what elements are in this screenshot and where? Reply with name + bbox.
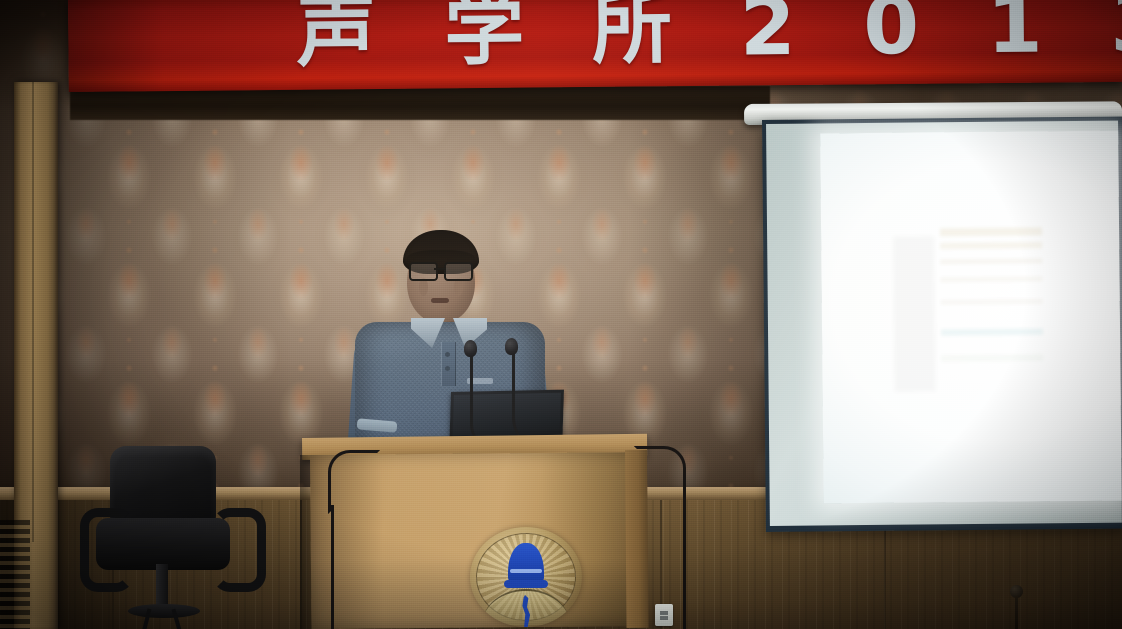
microphone-head-left <box>464 340 477 357</box>
gooseneck-microphone-left <box>470 346 491 446</box>
red-event-banner: 声 学 所 2 0 1 3 年 里 <box>68 0 1122 92</box>
eyeglass-lens-left <box>409 262 438 281</box>
presentation-photo: 声 学 所 2 0 1 3 年 里 <box>0 0 1122 629</box>
presenter-eyebrow <box>447 258 469 261</box>
projection-screen-border <box>766 121 1122 526</box>
podium-cable <box>331 505 408 629</box>
louvered-vent <box>0 520 30 629</box>
presenter-mouth <box>431 298 449 303</box>
microphone-head-right <box>505 338 518 355</box>
black-office-chair <box>84 446 254 629</box>
power-outlet <box>655 604 673 626</box>
polo-button <box>445 352 450 357</box>
polo-placket <box>441 342 456 386</box>
slide-ghost-text <box>940 228 1043 392</box>
podium-cable-right <box>634 446 686 629</box>
slide-ghost-column <box>893 236 936 392</box>
eyeglasses-icon <box>409 262 473 278</box>
wall-knob-stem <box>1015 596 1018 629</box>
polo-button <box>445 366 450 371</box>
banner-shadow-gap <box>70 86 770 120</box>
eyeglass-lens-right <box>444 262 473 281</box>
banner-text: 声 学 所 2 0 1 3 年 里 <box>296 0 1122 86</box>
presenter-eyebrow <box>413 258 435 261</box>
projection-screen-surface <box>820 131 1122 504</box>
chair-base <box>128 604 200 618</box>
pilaster-groove <box>32 82 34 542</box>
chair-seat <box>96 518 230 570</box>
projection-screen-frame <box>762 117 1122 532</box>
emblem-bell-band <box>510 569 542 573</box>
gooseneck-microphone-right <box>512 344 557 448</box>
institute-of-acoustics-emblem <box>470 527 582 627</box>
